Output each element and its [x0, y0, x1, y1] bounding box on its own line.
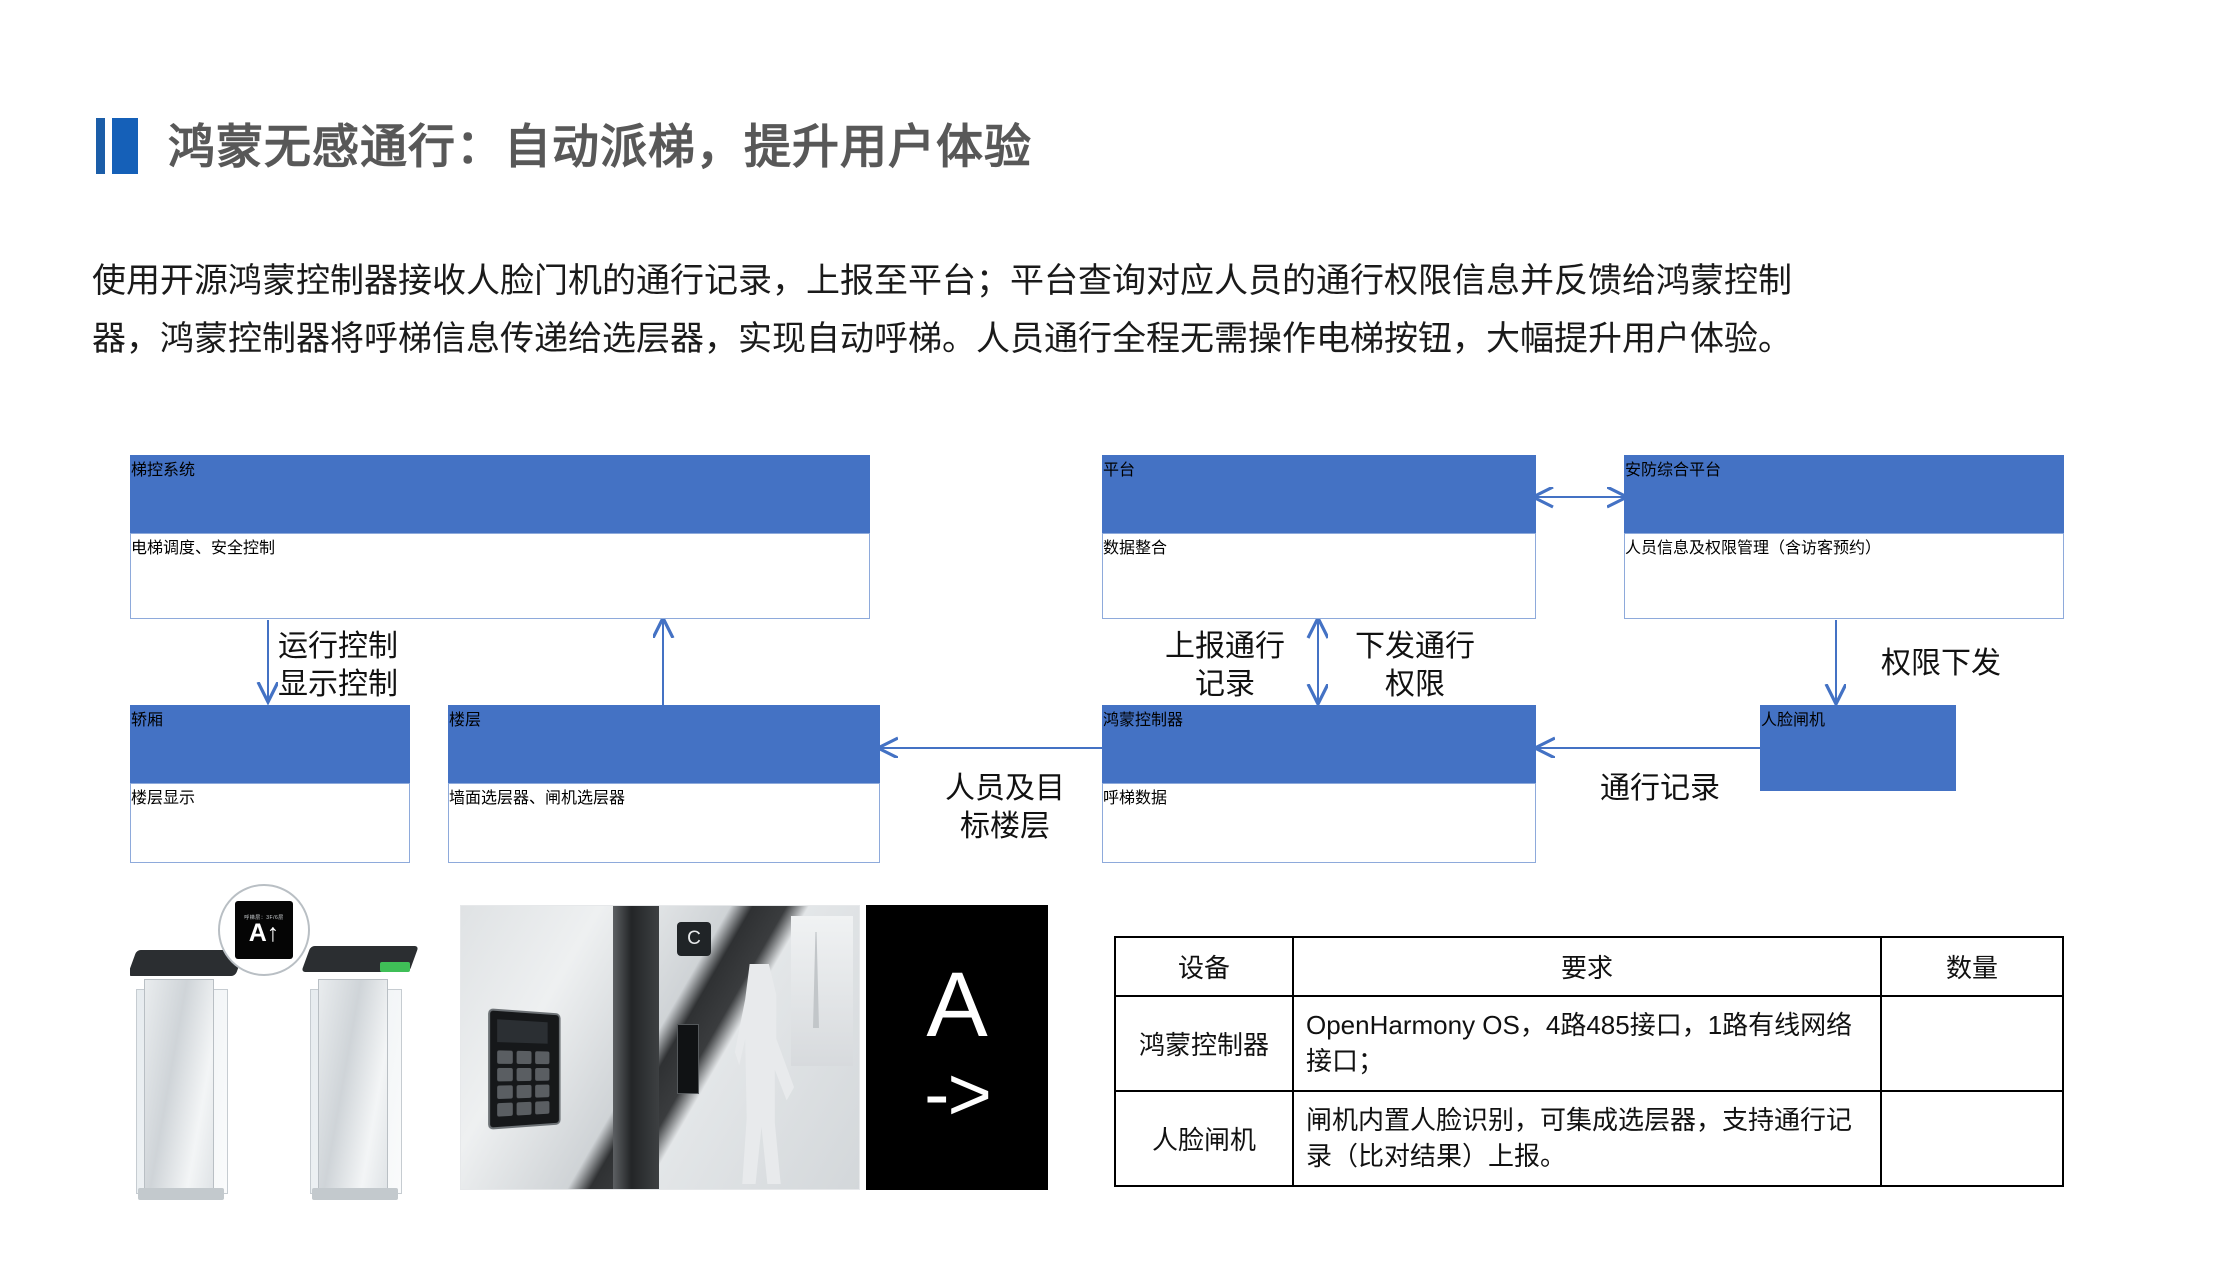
node-harmony-controller-title: 鸿蒙控制器 [1103, 706, 1535, 730]
node-platform-body: 数据整合 [1102, 533, 1536, 619]
node-security-platform-title: 安防综合平台 [1625, 456, 2063, 480]
table-header-row: 设备 要求 数量 [1115, 937, 2063, 996]
wall-selector-reader [488, 1008, 560, 1130]
node-security-platform-body: 人员信息及权限管理（含访客预约） [1624, 533, 2064, 619]
node-car-body: 楼层显示 [130, 783, 410, 863]
person-silhouette [723, 964, 797, 1184]
cell-quantity [1881, 996, 2063, 1091]
callout-display-circle: 呼梯层：3F/6层 A↑ [218, 884, 310, 976]
table-row: 鸿蒙控制器 OpenHarmony OS，4路485接口，1路有线网络接口； [1115, 996, 2063, 1091]
callout-screen: 呼梯层：3F/6层 A↑ [235, 901, 293, 959]
node-car-header: 轿厢 [130, 705, 410, 783]
cell-device: 鸿蒙控制器 [1115, 996, 1293, 1091]
edge-label-report-pass-record: 上报通行 记录 [1150, 628, 1300, 703]
header-quantity: 数量 [1881, 937, 2063, 996]
camera-label-icon: C [677, 922, 711, 956]
panel-arrow-icon: -> [924, 1065, 990, 1126]
door-side-reader [677, 1024, 699, 1094]
node-security-platform-header: 安防综合平台 [1624, 455, 2064, 533]
node-face-gate-header: 人脸闸机 [1760, 705, 1956, 791]
node-floor-title: 楼层 [449, 706, 879, 730]
edge-label-run-display-control: 运行控制 显示控制 [278, 628, 468, 703]
edge-label-issue-pass-right: 下发通行 权限 [1340, 628, 1490, 703]
node-harmony-controller-header: 鸿蒙控制器 [1102, 705, 1536, 783]
header-requirement: 要求 [1293, 937, 1881, 996]
cell-device: 人脸闸机 [1115, 1091, 1293, 1186]
cell-requirement: 闸机内置人脸识别，可集成选层器，支持通行记录（比对结果）上报。 [1293, 1091, 1881, 1186]
header-device: 设备 [1115, 937, 1293, 996]
node-elevator-control-title: 梯控系统 [131, 456, 869, 480]
node-floor-body: 墙面选层器、闸机选层器 [448, 783, 880, 863]
node-platform-header: 平台 [1102, 455, 1536, 533]
node-platform-title: 平台 [1103, 456, 1535, 480]
callout-floor-display: A↑ [249, 921, 280, 946]
edge-label-person-and-target-floor: 人员及目 标楼层 [930, 770, 1080, 845]
node-floor-header: 楼层 [448, 705, 880, 783]
table-row: 人脸闸机 闸机内置人脸识别，可集成选层器，支持通行记录（比对结果）上报。 [1115, 1091, 2063, 1186]
cell-quantity [1881, 1091, 2063, 1186]
node-elevator-control-body: 电梯调度、安全控制 [130, 533, 870, 619]
photo-elevator-arrival-panel: A -> [866, 905, 1048, 1190]
slide-canvas: 鸿蒙无感通行：自动派梯，提升用户体验 使用开源鸿蒙控制器接收人脸门机的通行记录，… [0, 0, 2222, 1280]
cell-requirement: OpenHarmony OS，4路485接口，1路有线网络接口； [1293, 996, 1881, 1091]
device-spec-table: 设备 要求 数量 鸿蒙控制器 OpenHarmony OS，4路485接口，1路… [1114, 936, 2064, 1187]
node-harmony-controller-body: 呼梯数据 [1102, 783, 1536, 863]
node-face-gate-title: 人脸闸机 [1761, 706, 1955, 730]
elevator-pillar [613, 906, 659, 1189]
photo-elevator-lobby: C [460, 905, 860, 1190]
window-skyline [791, 916, 853, 1066]
node-car-title: 轿厢 [131, 706, 409, 730]
edge-label-pass-record: 通行记录 [1570, 770, 1750, 808]
edge-label-right-issue: 权限下发 [1856, 645, 2026, 683]
panel-letter: A [926, 969, 987, 1043]
node-elevator-control-header: 梯控系统 [130, 455, 870, 533]
